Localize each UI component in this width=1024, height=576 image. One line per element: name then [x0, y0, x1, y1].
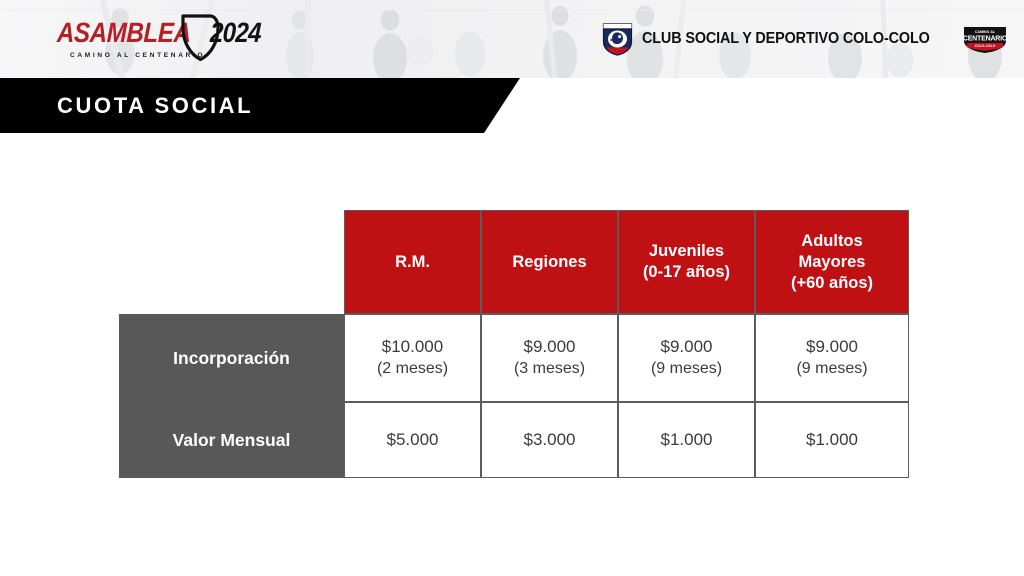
slide-root: ASAMBLEA 2024 CAMINO AL CENTENARIO CLUB … — [0, 0, 1024, 576]
cell-mensual-regiones-amount: $3.000 — [524, 430, 576, 449]
table-header-row: R.M. Regiones Juveniles (0-17 años) Adul… — [119, 210, 909, 314]
cell-incorporacion-regiones-note: (3 meses) — [482, 358, 617, 380]
svg-text:CENTENARIO: CENTENARIO — [963, 36, 1008, 43]
club-lockup: CLUB SOCIAL Y DEPORTIVO COLO-COLO CAMINO… — [602, 22, 1008, 56]
svg-text:COLO-COLO: COLO-COLO — [975, 44, 996, 48]
column-header-adultos-mayores: Adultos Mayores (+60 años) — [755, 210, 909, 314]
cell-incorporacion-rm-note: (2 meses) — [345, 358, 480, 380]
column-header-rm: R.M. — [344, 210, 481, 314]
column-header-adultos-label: Adultos — [801, 232, 862, 250]
cell-incorporacion-juveniles-amount: $9.000 — [661, 337, 713, 356]
cell-incorporacion-regiones: $9.000 (3 meses) — [481, 314, 618, 402]
row-label-valor-mensual: Valor Mensual — [119, 402, 344, 478]
cell-mensual-adultos: $1.000 — [755, 402, 909, 478]
row-label-incorporacion: Incorporación — [119, 314, 344, 402]
column-header-juveniles-range: (0-17 años) — [619, 262, 754, 283]
column-header-regiones-label: Regiones — [512, 253, 586, 271]
cell-mensual-regiones: $3.000 — [481, 402, 618, 478]
table-row: Incorporación $10.000 (2 meses) $9.000 (… — [119, 314, 909, 402]
column-header-rm-label: R.M. — [395, 253, 430, 271]
column-header-juveniles-label: Juveniles — [649, 242, 724, 260]
column-header-juveniles: Juveniles (0-17 años) — [618, 210, 755, 314]
cell-incorporacion-rm: $10.000 (2 meses) — [344, 314, 481, 402]
column-header-mayores-label: Mayores — [756, 252, 908, 273]
cell-mensual-rm-amount: $5.000 — [387, 430, 439, 449]
shield-outline-icon — [180, 14, 220, 61]
svg-text:CAMINO AL: CAMINO AL — [975, 30, 996, 34]
centenario-badge-icon: CAMINO AL CENTENARIO COLO-COLO — [962, 24, 1008, 54]
cell-incorporacion-adultos-amount: $9.000 — [806, 337, 858, 356]
row-label-incorporacion-text: Incorporación — [173, 348, 290, 368]
table-corner-cell — [119, 210, 344, 314]
cell-mensual-rm: $5.000 — [344, 402, 481, 478]
asamblea-logo: ASAMBLEA 2024 CAMINO AL CENTENARIO — [57, 19, 270, 59]
cell-incorporacion-regiones-amount: $9.000 — [524, 337, 576, 356]
cell-incorporacion-juveniles-note: (9 meses) — [619, 358, 754, 380]
cell-incorporacion-adultos: $9.000 (9 meses) — [755, 314, 909, 402]
cell-mensual-juveniles: $1.000 — [618, 402, 755, 478]
page-title: CUOTA SOCIAL — [57, 93, 253, 119]
cell-incorporacion-rm-amount: $10.000 — [382, 337, 443, 356]
row-label-valor-mensual-text: Valor Mensual — [173, 430, 291, 450]
cell-mensual-juveniles-amount: $1.000 — [661, 430, 713, 449]
asamblea-logo-word: ASAMBLEA — [57, 19, 192, 47]
cell-mensual-adultos-amount: $1.000 — [806, 430, 858, 449]
column-header-regiones: Regiones — [481, 210, 618, 314]
table-row: Valor Mensual $5.000 $3.000 $1.000 $1.00… — [119, 402, 909, 478]
asamblea-logo-row: ASAMBLEA 2024 — [57, 19, 270, 47]
club-name-text: CLUB SOCIAL Y DEPORTIVO COLO-COLO — [642, 30, 930, 48]
cell-incorporacion-adultos-note: (9 meses) — [756, 358, 908, 380]
section-title-banner: CUOTA SOCIAL — [0, 78, 520, 133]
colo-colo-crest-icon — [602, 22, 633, 56]
column-header-adultos-range: (+60 años) — [756, 273, 908, 294]
cell-incorporacion-juveniles: $9.000 (9 meses) — [618, 314, 755, 402]
cuota-social-table: R.M. Regiones Juveniles (0-17 años) Adul… — [119, 210, 909, 478]
pricing-table-container: R.M. Regiones Juveniles (0-17 años) Adul… — [119, 210, 909, 472]
